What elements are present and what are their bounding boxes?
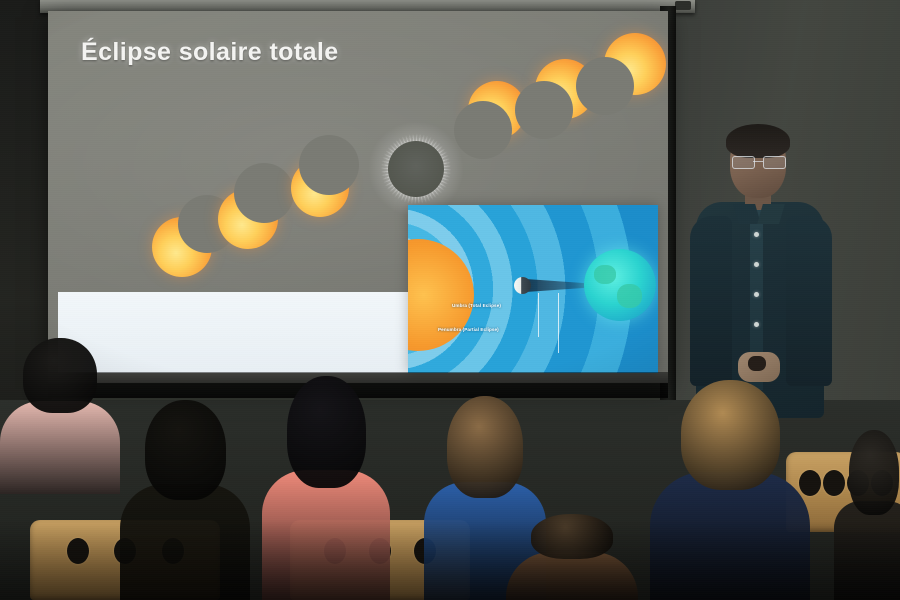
slide-canvas: Éclipse solaire totale eclipse2024.org g… — [48, 11, 668, 383]
earth-landmass — [617, 284, 641, 308]
presenter-glasses — [732, 156, 784, 167]
moon-occlusion — [234, 163, 294, 223]
umbra-leader-line — [538, 293, 539, 337]
glasses-lens-left — [732, 156, 755, 169]
audience-head — [23, 338, 97, 413]
eclipse-partial-return-3 — [604, 33, 666, 95]
earth-landmass — [594, 265, 616, 284]
eclipse-partial-late — [291, 159, 349, 217]
shirt-button — [754, 232, 759, 237]
diagram-earth — [584, 249, 656, 321]
audience-head — [287, 376, 366, 488]
screen-casing-knob — [675, 1, 691, 10]
penumbra-leader-line — [558, 293, 559, 353]
audience-head — [681, 380, 780, 490]
moon-occlusion — [299, 135, 359, 195]
audience-torso — [0, 401, 120, 494]
shirt-button — [754, 292, 759, 297]
glasses-lens-right — [763, 156, 786, 169]
audience-head — [849, 430, 899, 515]
moon-occlusion — [515, 81, 573, 139]
audience-head — [145, 400, 226, 500]
slide-title: Éclipse solaire totale — [81, 38, 339, 67]
presenter — [690, 128, 840, 418]
moon-disc — [388, 141, 444, 197]
presenter-arm-right — [786, 216, 832, 386]
umbra-penumbra-diagram: Umbra (Total Eclipse)Penumbra (Partial E… — [408, 205, 658, 373]
shirt-button — [754, 262, 759, 267]
person-cap-left — [0, 338, 120, 488]
eclipse-partial-early — [152, 217, 212, 277]
audience-head — [447, 396, 523, 498]
diagram-moon — [514, 277, 531, 294]
projection-screen: Éclipse solaire totale eclipse2024.org g… — [48, 11, 668, 383]
diagram-label: Penumbra (Partial Eclipse) — [438, 327, 499, 332]
diagram-label: Umbra (Total Eclipse) — [452, 303, 501, 308]
shirt-button — [754, 322, 759, 327]
moon-occlusion — [576, 57, 634, 115]
presenter-arm-left — [690, 216, 732, 386]
presentation-photo: Éclipse solaire totale eclipse2024.org g… — [0, 0, 900, 600]
presenter-hair — [726, 124, 790, 158]
presenter-held-object — [748, 356, 766, 371]
moon-occlusion — [454, 101, 512, 159]
eclipse-totality-corona — [366, 119, 466, 219]
foreground-shadow — [0, 520, 900, 600]
eclipse-partial-mid — [218, 189, 278, 249]
glasses-bridge — [753, 161, 763, 162]
